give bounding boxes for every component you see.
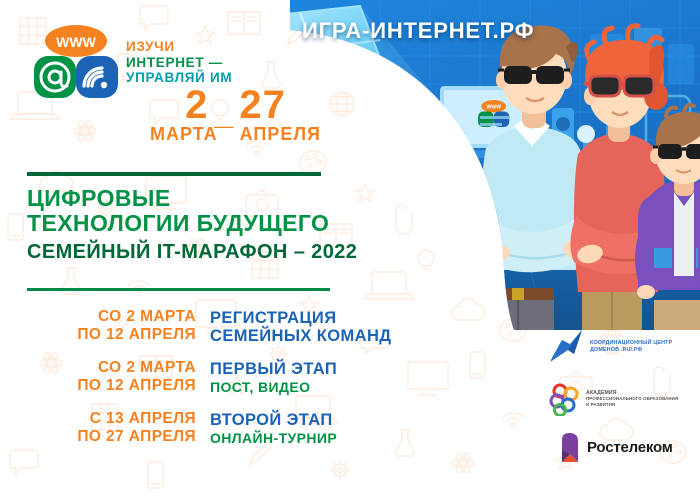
sponsor-academy: АКАДЕМИЯ ПРОФЕССИОНАЛЬНОГО ОБРАЗОВАНИЯ И… (548, 382, 693, 416)
schedule-title-2: СЕМЕЙНЫХ КОМАНД (210, 327, 391, 345)
schedule-row: СО 2 МАРТА ПО 12 АПРЕЛЯ РЕГИСТРАЦИЯ СЕМЕ… (18, 308, 438, 345)
sponsor-cc-line-1: КООРДИНАЦИОННЫЙ ЦЕНТР (590, 340, 672, 347)
dates-banner: 2 _ 27 МАРТА АПРЕЛЯ (118, 84, 353, 145)
brand-lockup: ИЗУЧИ ИНТЕРНЕТ — УПРАВЛЯЙ ИМ (126, 40, 346, 86)
schedule-date-line-2: ПО 12 АПРЕЛЯ (18, 377, 196, 395)
divider-thin (27, 288, 330, 291)
schedule-date-line-2: ПО 12 АПРЕЛЯ (18, 326, 196, 344)
lockup-line-2: ИНТЕРНЕТ — (126, 55, 346, 71)
lockup-line-1: ИЗУЧИ (126, 40, 346, 55)
end-day: 27 (239, 84, 286, 126)
schedule-title: ВТОРОЙ ЭТАП (210, 411, 337, 429)
sponsor-cc-line-2: ДОМЕНОВ .RU/.РФ (590, 347, 672, 354)
logo-www-text: WWW (56, 34, 96, 50)
rocket-icon (548, 328, 588, 366)
schedule-row: С 13 АПРЕЛЯ ПО 27 АПРЕЛЯ ВТОРОЙ ЭТАП ОНЛ… (18, 410, 438, 447)
poster-root: WWW (0, 0, 700, 500)
sponsor-coordination-center: КООРДИНАЦИОННЫЙ ЦЕНТР ДОМЕНОВ .RU/.РФ (548, 328, 693, 366)
schedule-body: ПЕРВЫЙ ЭТАП ПОСТ, ВИДЕО (210, 359, 337, 396)
schedule-title: РЕГИСТРАЦИЯ (210, 309, 391, 327)
schedule-dates: СО 2 МАРТА ПО 12 АПРЕЛЯ (18, 359, 210, 396)
headline-line-1: ЦИФРОВЫЕ (27, 186, 427, 211)
headline-line-3: СЕМЕЙНЫЙ IT-МАРАФОН – 2022 (27, 239, 427, 265)
rostelecom-mark-icon (558, 432, 582, 462)
dates-dash: _ (214, 92, 233, 134)
schedule-date-line-1: СО 2 МАРТА (18, 359, 196, 377)
end-month: АПРЕЛЯ (240, 124, 321, 145)
svg-text:WWW: WWW (486, 104, 501, 110)
brand-logo: WWW (28, 24, 124, 100)
schedule-date-line-1: С 13 АПРЕЛЯ (18, 410, 196, 428)
schedule-row: СО 2 МАРТА ПО 12 АПРЕЛЯ ПЕРВЫЙ ЭТАП ПОСТ… (18, 359, 438, 396)
schedule-date-line-2: ПО 27 АПРЕЛЯ (18, 428, 196, 446)
schedule-body: ВТОРОЙ ЭТАП ОНЛАЙН-ТУРНИР (210, 410, 337, 447)
schedule-subtitle: ОНЛАЙН-ТУРНИР (210, 430, 337, 447)
academy-flower-icon (548, 382, 582, 416)
schedule-body: РЕГИСТРАЦИЯ СЕМЕЙНЫХ КОМАНД (210, 308, 391, 345)
divider-thick (27, 172, 321, 176)
sponsor-rostelecom: Ростелеком (558, 432, 693, 462)
schedule-title: ПЕРВЫЙ ЭТАП (210, 360, 337, 378)
schedule-list: СО 2 МАРТА ПО 12 АПРЕЛЯ РЕГИСТРАЦИЯ СЕМЕ… (18, 308, 438, 461)
headline-line-2: ТЕХНОЛОГИИ БУДУЩЕГО (27, 211, 427, 236)
schedule-subtitle: ПОСТ, ВИДЕО (210, 379, 337, 396)
hero-illustration-panel: WWW (290, 0, 700, 330)
start-day: 2 (185, 84, 208, 126)
schedule-dates: СО 2 МАРТА ПО 12 АПРЕЛЯ (18, 308, 210, 345)
schedule-dates: С 13 АПРЕЛЯ ПО 27 АПРЕЛЯ (18, 410, 210, 447)
start-month: МАРТА (150, 124, 218, 145)
sponsor-academy-line-3: И РАЗВИТИЯ (586, 402, 678, 408)
headline-block: ЦИФРОВЫЕ ТЕХНОЛОГИИ БУДУЩЕГО СЕМЕЙНЫЙ IT… (27, 186, 427, 265)
sponsor-academy-line-2: ПРОФЕССИОНАЛЬНОГО ОБРАЗОВАНИЯ (586, 396, 678, 402)
sponsor-logos: КООРДИНАЦИОННЫЙ ЦЕНТР ДОМЕНОВ .RU/.РФ АК… (548, 328, 693, 478)
schedule-date-line-1: СО 2 МАРТА (18, 308, 196, 326)
sponsor-rostelecom-label: Ростелеком (587, 439, 673, 456)
